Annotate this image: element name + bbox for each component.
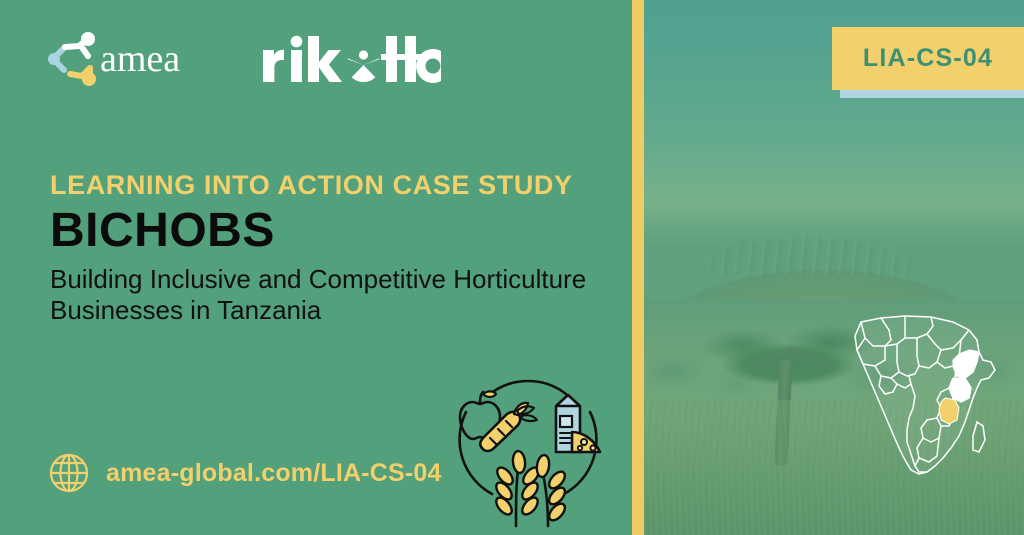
mountain-ridge-texture — [664, 185, 994, 275]
case-study-poster: LIA-CS-04 amea — [0, 0, 1024, 535]
island-madagascar — [973, 422, 985, 452]
badge-shadow-bar — [840, 90, 1024, 98]
amea-hexagon-network-icon — [48, 32, 106, 88]
food-value-chain-illustration — [444, 366, 614, 531]
website-url[interactable]: amea-global.com/LIA-CS-04 — [106, 459, 442, 488]
apple-and-carrot-icon — [460, 391, 537, 451]
eyebrow-label: LEARNING INTO ACTION CASE STUDY — [50, 170, 573, 201]
website-row[interactable]: amea-global.com/LIA-CS-04 — [48, 452, 442, 494]
rikolto-logo — [261, 34, 441, 86]
amea-wordmark: amea — [100, 40, 180, 78]
globe-icon — [48, 452, 90, 494]
country-tanzania-highlight — [939, 398, 959, 424]
amea-logo: amea — [48, 32, 198, 88]
page-subtitle: Building Inclusive and Competitive Horti… — [50, 264, 590, 326]
africa-map-overlay — [819, 300, 1019, 500]
page-title: BICHOBS — [50, 205, 275, 257]
case-code-badge: LIA-CS-04 — [832, 27, 1024, 90]
case-code-label: LIA-CS-04 — [863, 44, 993, 73]
wheat-stalks-icon — [493, 450, 567, 526]
vertical-divider — [632, 0, 644, 535]
